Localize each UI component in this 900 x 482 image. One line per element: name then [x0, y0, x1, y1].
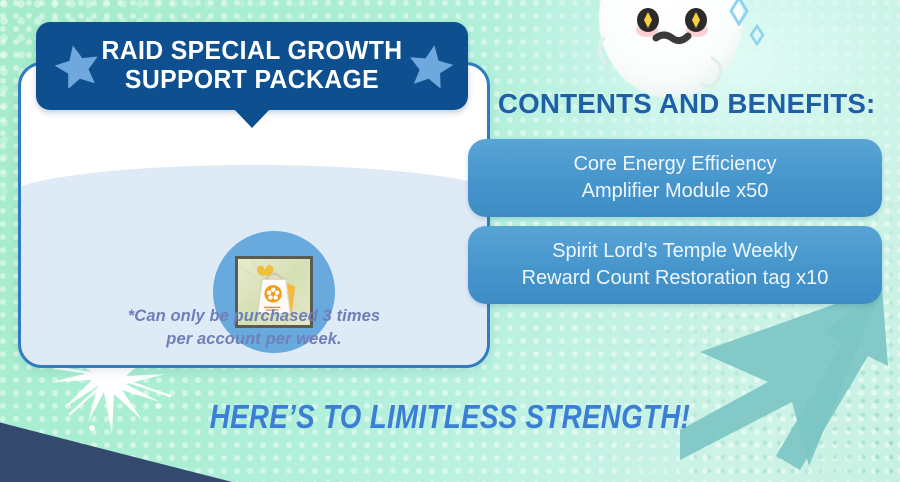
benefit-item-1[interactable]: Core Energy Efficiency Amplifier Module …: [468, 139, 882, 217]
benefit-2-line-2: Reward Count Restoration tag x10: [522, 265, 829, 292]
diamond-sparkle-icon: [746, 24, 768, 46]
benefit-item-2[interactable]: Spirit Lord’s Temple Weekly Reward Count…: [468, 226, 882, 304]
package-title-line-1: Raid Special Growth: [42, 37, 461, 66]
package-title-banner: Raid Special Growth Support Package: [36, 22, 468, 110]
package-title: Raid Special Growth Support Package: [42, 37, 461, 95]
note-line-1: *Can only be purchased 3 times: [21, 305, 487, 328]
diamond-sparkle-icon: [724, 0, 754, 26]
contents-heading: Contents and Benefits:: [498, 88, 876, 120]
note-line-2: per account per week.: [21, 328, 487, 351]
benefit-1-line-2: Amplifier Module x50: [573, 178, 776, 205]
benefit-2-line-1: Spirit Lord’s Temple Weekly: [522, 238, 829, 265]
promo-tagline: Here’s to Limitless Strength!: [72, 398, 828, 436]
promo-banner-stage: *Can only be purchased 3 times per accou…: [0, 0, 900, 482]
package-title-line-2: Support Package: [42, 66, 461, 95]
benefit-1-line-1: Core Energy Efficiency: [573, 151, 776, 178]
banner-notch: [233, 108, 271, 128]
purchase-limit-note: *Can only be purchased 3 times per accou…: [21, 305, 487, 351]
